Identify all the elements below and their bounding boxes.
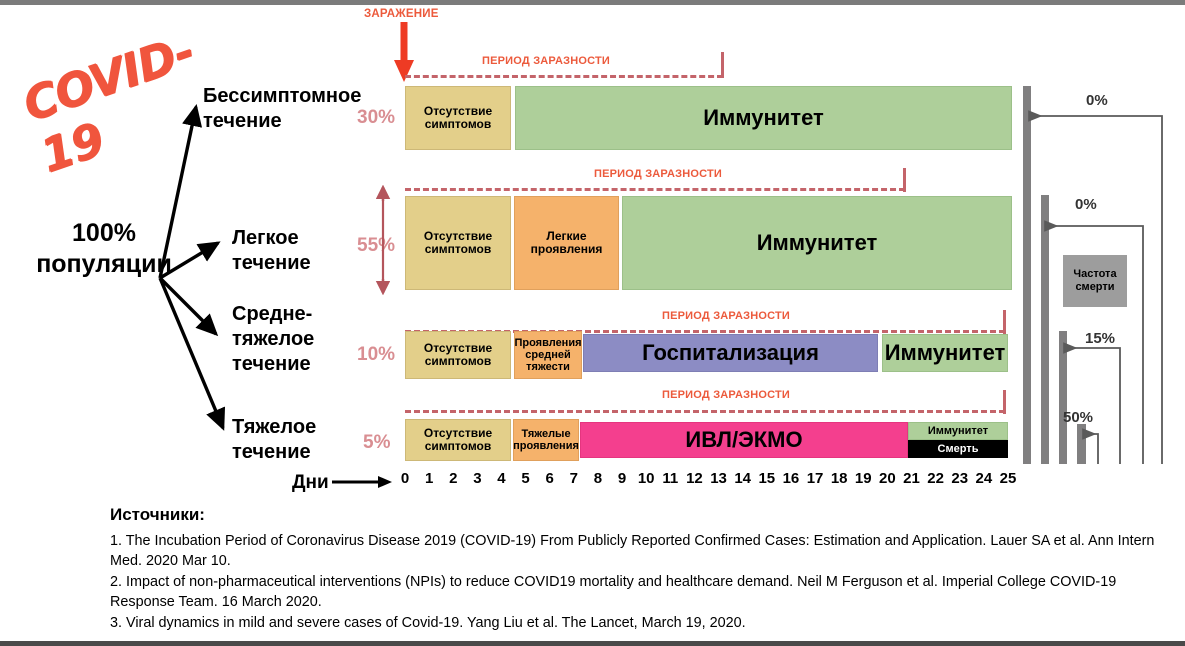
- share-label-row1: 30%: [357, 107, 395, 129]
- segment-severe-manifestations-row4: Тяжелые проявления: [513, 419, 579, 461]
- day-tick: 8: [587, 470, 609, 487]
- segment-label: Отсутствие симптомов: [424, 342, 492, 369]
- segment-label: Иммунитет: [885, 341, 1006, 366]
- segment-immunity-row2: Иммунитет: [622, 196, 1012, 290]
- share-label-row4: 5%: [363, 432, 390, 454]
- segment-label: Иммунитет: [757, 231, 878, 256]
- day-tick: 7: [563, 470, 585, 487]
- segment-label: Отсутствие симптомов: [424, 427, 492, 454]
- day-tick: 6: [539, 470, 561, 487]
- infectious-period-label-row3: ПЕРИОД ЗАРАЗНОСТИ: [662, 310, 790, 322]
- segment-label: Смерть: [938, 443, 979, 455]
- segment-label: Тяжелые проявления: [513, 428, 579, 453]
- death-rate-connector-lines: [1010, 60, 1185, 470]
- segment-mild-manifestations-row2: Легкие проявления: [514, 196, 619, 290]
- day-tick: 15: [756, 470, 778, 487]
- day-tick: 10: [635, 470, 657, 487]
- infectious-period-line-row1: [405, 75, 723, 78]
- infectious-period-endcap-row2: [903, 168, 906, 192]
- source-item: 1. The Incubation Period of Coronavirus …: [110, 531, 1170, 572]
- share-label-row3: 10%: [357, 344, 395, 366]
- segment-label: Иммунитет: [703, 106, 824, 131]
- day-tick: 12: [683, 470, 705, 487]
- share-range-arrow-row2: [374, 185, 392, 295]
- segment-label: Отсутствие симптомов: [424, 230, 492, 257]
- day-tick: 4: [490, 470, 512, 487]
- day-tick: 22: [925, 470, 947, 487]
- segment-moderate-manifestations-row3: Проявления средней тяжести: [514, 331, 582, 379]
- axis-title-days: Дни: [292, 472, 329, 494]
- day-tick: 21: [901, 470, 923, 487]
- segment-label: ИВЛ/ЭКМО: [685, 428, 802, 453]
- segment-no-symptoms-row3: Отсутствие симптомов: [405, 331, 511, 379]
- day-tick: 25: [997, 470, 1019, 487]
- segment-no-symptoms-row2: Отсутствие симптомов: [405, 196, 511, 290]
- infectious-period-label-row4: ПЕРИОД ЗАРАЗНОСТИ: [662, 389, 790, 401]
- sources-block: Источники: 1. The Incubation Period of C…: [110, 505, 1170, 633]
- infection-label: ЗАРАЖЕНИЕ: [364, 8, 439, 20]
- day-tick: 11: [659, 470, 681, 487]
- infectious-period-endcap-row3: [1003, 310, 1006, 334]
- day-tick: 19: [852, 470, 874, 487]
- segment-label: Иммунитет: [928, 425, 988, 437]
- segment-immunity-row3: Иммунитет: [882, 334, 1008, 372]
- segment-no-symptoms-row1: Отсутствие симптомов: [405, 86, 511, 150]
- sources-title: Источники:: [110, 505, 1170, 525]
- day-tick: 18: [828, 470, 850, 487]
- day-tick: 0: [394, 470, 416, 487]
- day-tick: 23: [949, 470, 971, 487]
- infectious-period-line-row2: [405, 188, 905, 191]
- day-tick: 9: [611, 470, 633, 487]
- day-tick: 2: [442, 470, 464, 487]
- infectious-period-label-row2: ПЕРИОД ЗАРАЗНОСТИ: [594, 168, 722, 180]
- infectious-period-label-row1: ПЕРИОД ЗАРАЗНОСТИ: [482, 55, 610, 67]
- day-tick: 13: [708, 470, 730, 487]
- branch-arrows: [0, 0, 360, 480]
- segment-label: Проявления средней тяжести: [514, 337, 581, 374]
- day-tick: 20: [876, 470, 898, 487]
- segment-hospitalization-row3: Госпитализация: [583, 334, 878, 372]
- axis-arrow-icon: [332, 472, 394, 492]
- infectious-period-endcap-row1: [721, 52, 724, 78]
- day-tick: 5: [515, 470, 537, 487]
- day-tick: 14: [732, 470, 754, 487]
- segment-immunity-row1: Иммунитет: [515, 86, 1012, 150]
- day-tick: 24: [973, 470, 995, 487]
- source-item: 2. Impact of non-pharmaceutical interven…: [110, 572, 1170, 613]
- segment-label: Легкие проявления: [531, 230, 603, 257]
- infectious-period-endcap-row4: [1003, 390, 1006, 414]
- day-tick: 3: [466, 470, 488, 487]
- segment-label: Госпитализация: [642, 341, 819, 366]
- source-item: 3. Viral dynamics in mild and severe cas…: [110, 613, 1170, 633]
- segment-label: Отсутствие симптомов: [424, 105, 492, 132]
- segment-ivl-ecmo-row4: ИВЛ/ЭКМО: [580, 422, 908, 458]
- segment-immunity-row4: Иммунитет: [908, 422, 1008, 440]
- day-tick: 1: [418, 470, 440, 487]
- day-tick: 17: [804, 470, 826, 487]
- segment-no-symptoms-row4: Отсутствие симптомов: [405, 419, 511, 461]
- infectious-period-line-row4: [405, 410, 1005, 413]
- day-tick: 16: [780, 470, 802, 487]
- segment-death-row4: Смерть: [908, 440, 1008, 458]
